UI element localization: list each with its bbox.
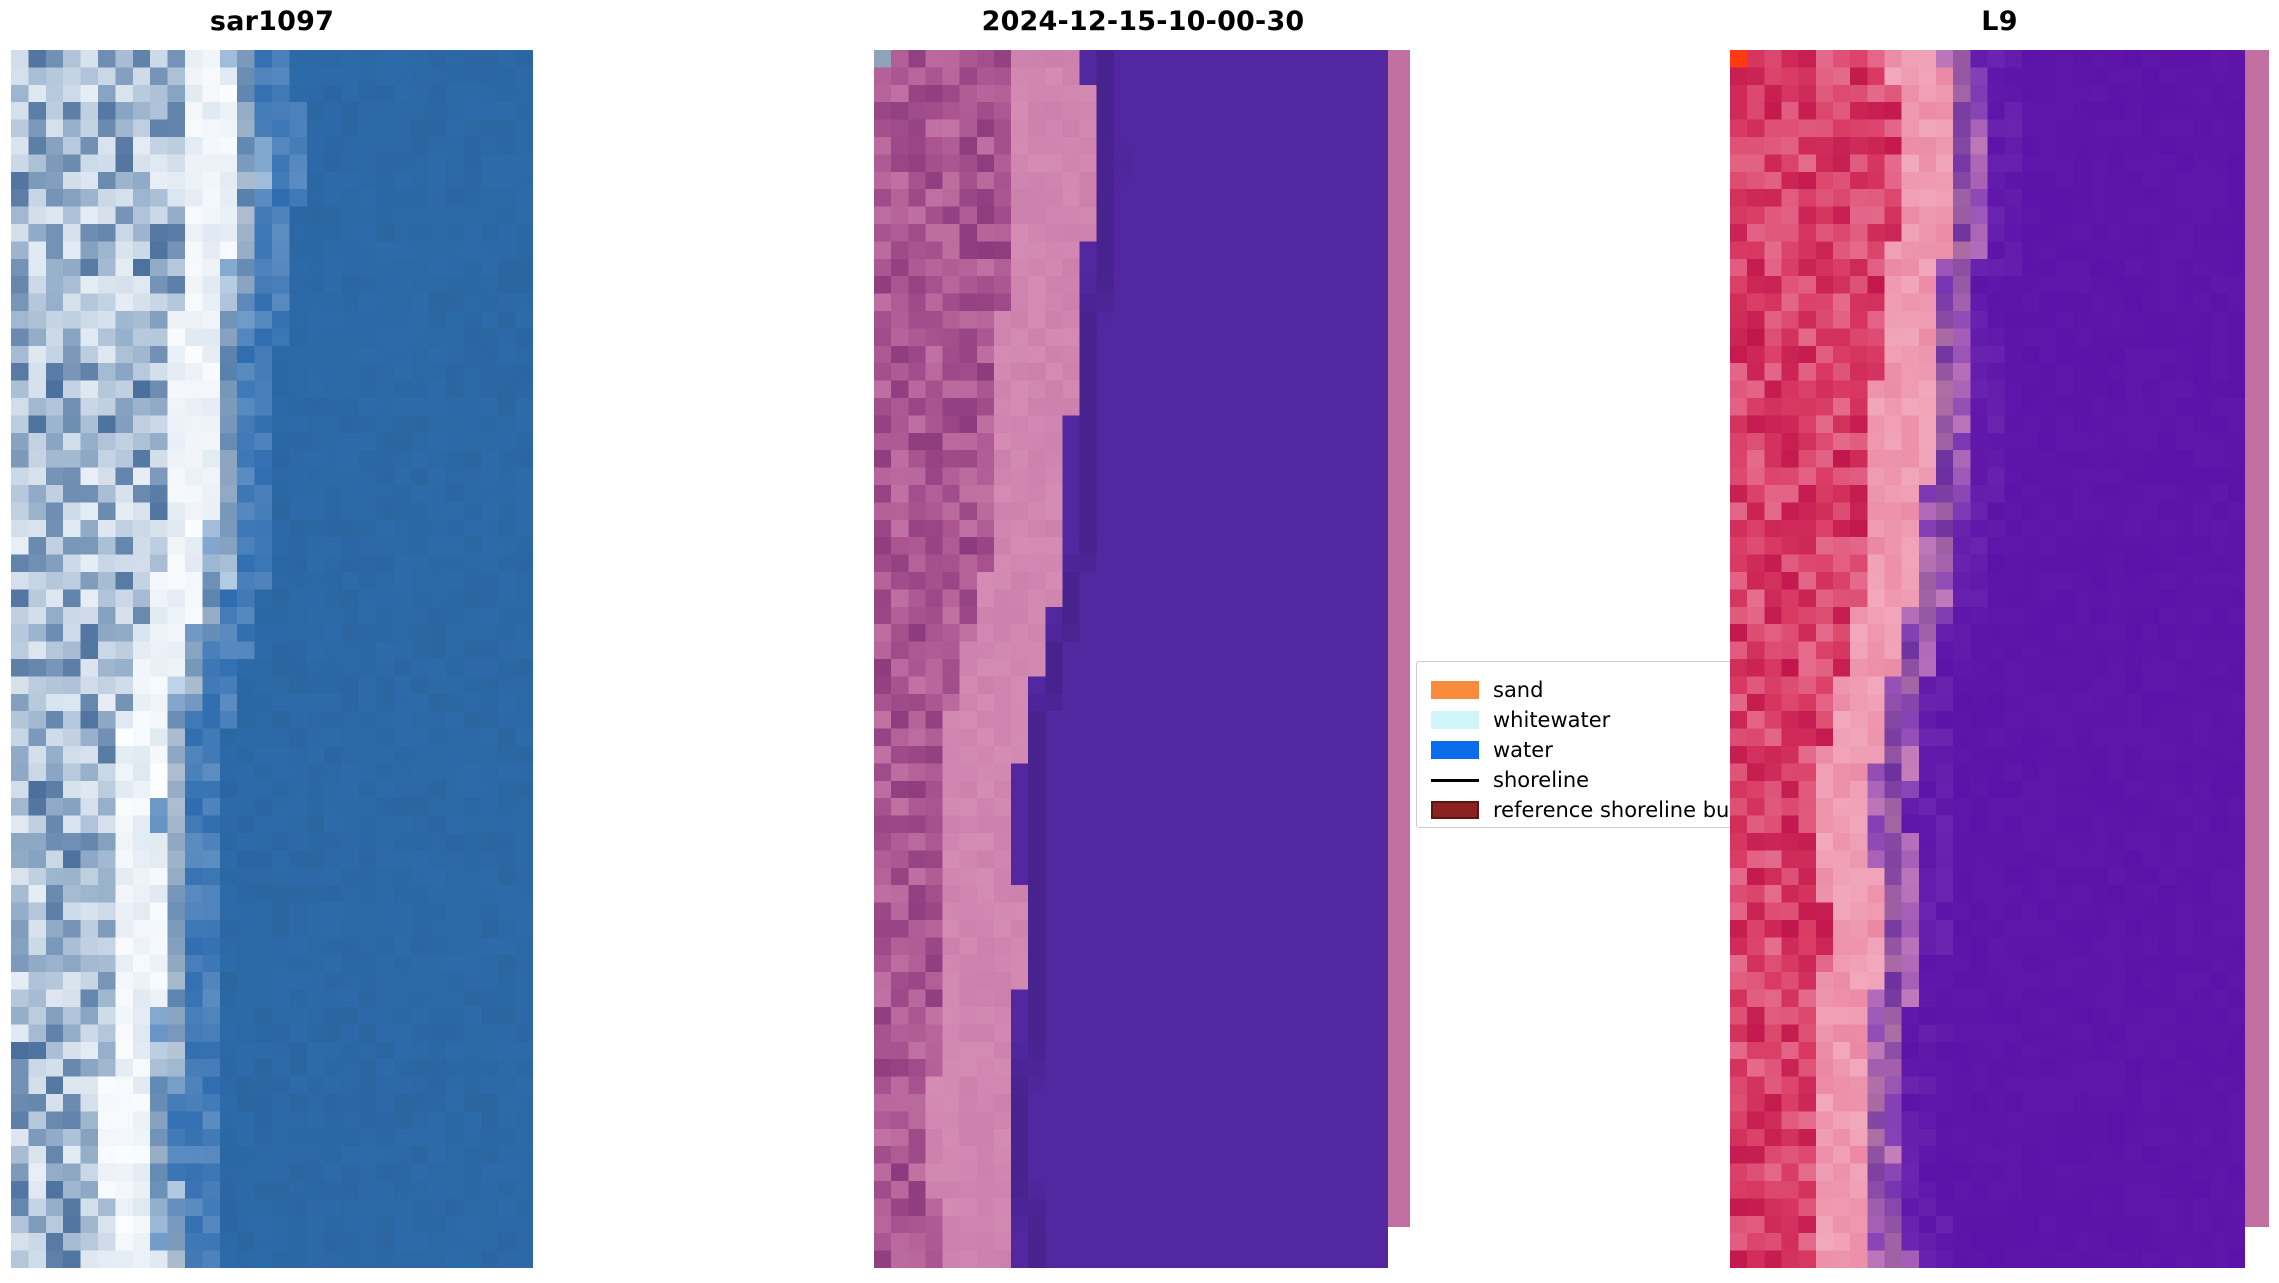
panel-title-l9: L9 (1730, 6, 2269, 37)
shoreline-line-icon (1431, 779, 1479, 782)
legend-item-sand: sand (1431, 675, 1730, 705)
legend-label-sand: sand (1493, 680, 1543, 701)
sand-swatch-icon (1431, 681, 1479, 699)
legend-item-reference-shoreline-buffer: reference shoreline buffer (1431, 795, 1730, 825)
figure-canvas: sar1097 2024-12-15-10-00-30 L9 sand whit… (0, 0, 2279, 1283)
reference-shoreline-buffer-swatch-icon (1431, 801, 1479, 819)
whitewater-swatch-icon (1431, 711, 1479, 729)
classified-image[interactable] (874, 50, 1388, 1268)
l9-image[interactable] (1730, 50, 2245, 1268)
sar-image[interactable] (11, 50, 533, 1268)
legend-label-shoreline: shoreline (1493, 770, 1589, 791)
legend-label-whitewater: whitewater (1493, 710, 1610, 731)
reference-shoreline-buffer-strip-l9 (2245, 50, 2269, 1227)
legend-item-whitewater: whitewater (1431, 705, 1730, 735)
map-legend[interactable]: sand whitewater water shoreline referenc… (1416, 661, 1730, 828)
legend-label-reference-shoreline-buffer: reference shoreline buffer (1493, 800, 1730, 821)
legend-clip-region: sand whitewater water shoreline referenc… (1416, 661, 1730, 830)
panel-title-sar: sar1097 (0, 6, 544, 37)
legend-item-shoreline: shoreline (1431, 765, 1730, 795)
panel-title-classified: 2024-12-15-10-00-30 (874, 6, 1412, 37)
water-swatch-icon (1431, 741, 1479, 759)
reference-shoreline-buffer-strip-classified (1388, 50, 1410, 1227)
legend-item-water: water (1431, 735, 1730, 765)
legend-label-water: water (1493, 740, 1553, 761)
